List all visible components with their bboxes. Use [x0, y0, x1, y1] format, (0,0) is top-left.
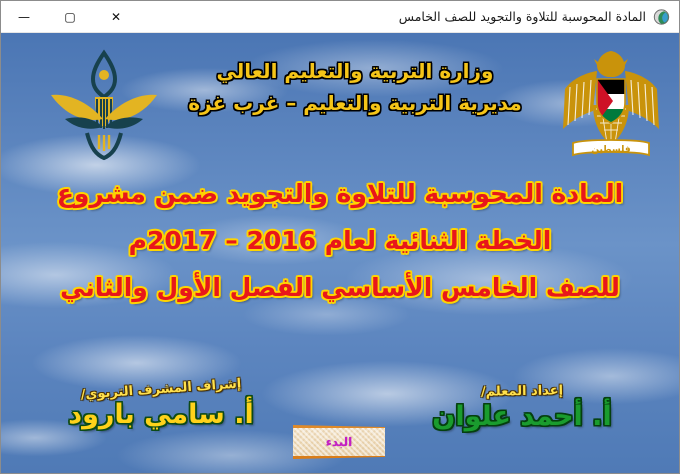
ministry-heading-block: وزارة التربية والتعليم العالي مديرية الت…	[161, 55, 549, 119]
minimize-button[interactable]: —	[1, 1, 47, 33]
window-title: المادة المحوسبة للتلاوة والتجويد للصف ال…	[399, 1, 646, 33]
application-window: المادة المحوسبة للتلاوة والتجويد للصف ال…	[0, 0, 680, 474]
presentation-slide: فلسطين وزارة التربية والتعليم العالي مدي…	[1, 33, 679, 473]
supervisor-credit-name: أ. سامي بارود	[31, 400, 291, 430]
palestine-coat-of-arms-icon: فلسطين	[553, 45, 669, 165]
maximize-button[interactable]: ▢	[47, 1, 93, 33]
headline-line-1: المادة المحوسبة للتلاوة والتجويد ضمن مشر…	[1, 181, 679, 206]
start-button[interactable]: البدء	[293, 425, 385, 459]
supervisor-credit: إشراف المشرف التربوي/ أ. سامي بارود	[31, 383, 291, 431]
teacher-credit: إعداد المعلم/ أ. أحمد علوان	[387, 385, 657, 433]
close-icon: ✕	[111, 11, 121, 23]
ministry-of-education-emblem-icon	[39, 45, 169, 165]
headline-line-2: الخطة الثنائية لعام 2016 – 2017م	[1, 228, 679, 253]
teacher-credit-label: إعداد المعلم/	[387, 383, 657, 402]
svg-text:فلسطين: فلسطين	[591, 145, 630, 155]
headline-line-3: للصف الخامس الأساسي الفصل الأول والثاني	[1, 275, 679, 300]
minimize-icon: —	[18, 11, 30, 23]
ministry-heading-line-2: مديرية التربية والتعليم – غرب غزة	[161, 87, 549, 119]
title-bar: المادة المحوسبة للتلاوة والتجويد للصف ال…	[1, 1, 679, 33]
slide-headline-block: المادة المحوسبة للتلاوة والتجويد ضمن مشر…	[1, 181, 679, 300]
start-button-label: البدء	[293, 425, 385, 459]
window-controls: — ▢ ✕	[1, 1, 139, 33]
app-globe-disc-icon	[652, 7, 672, 27]
slide-header: فلسطين وزارة التربية والتعليم العالي مدي…	[1, 39, 679, 169]
maximize-icon: ▢	[64, 11, 75, 23]
ministry-heading-line-1: وزارة التربية والتعليم العالي	[161, 55, 549, 87]
teacher-credit-name: أ. أحمد علوان	[387, 402, 657, 432]
close-button[interactable]: ✕	[93, 1, 139, 33]
